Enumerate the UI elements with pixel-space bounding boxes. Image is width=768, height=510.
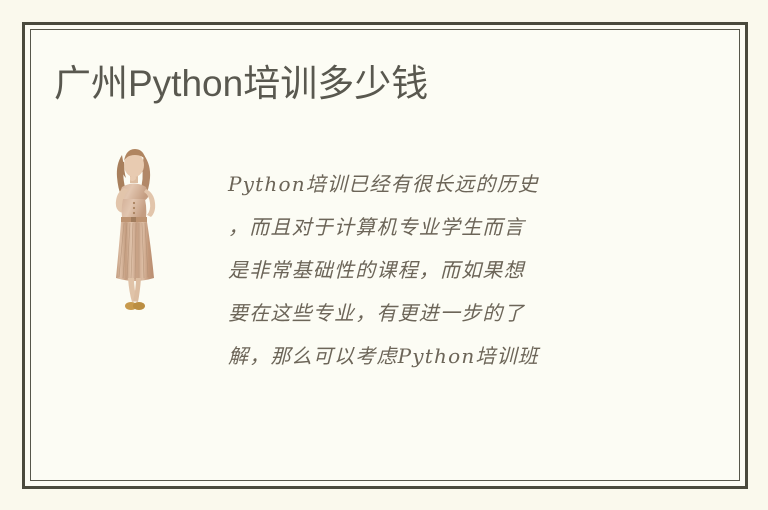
body-line-text: Python培训已经有很长远的历史 — [228, 163, 539, 206]
woman-thinking-illustration — [88, 143, 188, 333]
body-line: 解，那么可以考虑Python培训班 — [228, 335, 640, 378]
poster-canvas: 广州Python培训多少钱 — [0, 0, 768, 510]
body-line: Python培训已经有很长远的历史 — [228, 163, 640, 206]
button — [133, 202, 135, 204]
belt-buckle — [131, 217, 136, 222]
woman-figure-svg — [88, 143, 188, 333]
body-line-text: ，而且对于计算机专业学生而言 — [228, 206, 525, 249]
body-line: 要在这些专业，有更进一步的了 — [228, 292, 640, 335]
page-title: 广州Python培训多少钱 — [54, 61, 428, 107]
body-line-text: 解，那么可以考虑Python培训班 — [228, 335, 539, 378]
body-paragraph: Python培训已经有很长远的历史 ，而且对于计算机专业学生而言 是非常基础性的… — [228, 163, 640, 378]
body-line-text: 要在这些专业，有更进一步的了 — [228, 292, 525, 335]
button — [133, 207, 135, 209]
body-line: 是非常基础性的课程，而如果想 — [228, 249, 640, 292]
button — [133, 212, 135, 214]
shoe-right — [133, 302, 145, 310]
body-line-text: 是非常基础性的课程，而如果想 — [228, 249, 525, 292]
body-line: ，而且对于计算机专业学生而言 — [228, 206, 640, 249]
